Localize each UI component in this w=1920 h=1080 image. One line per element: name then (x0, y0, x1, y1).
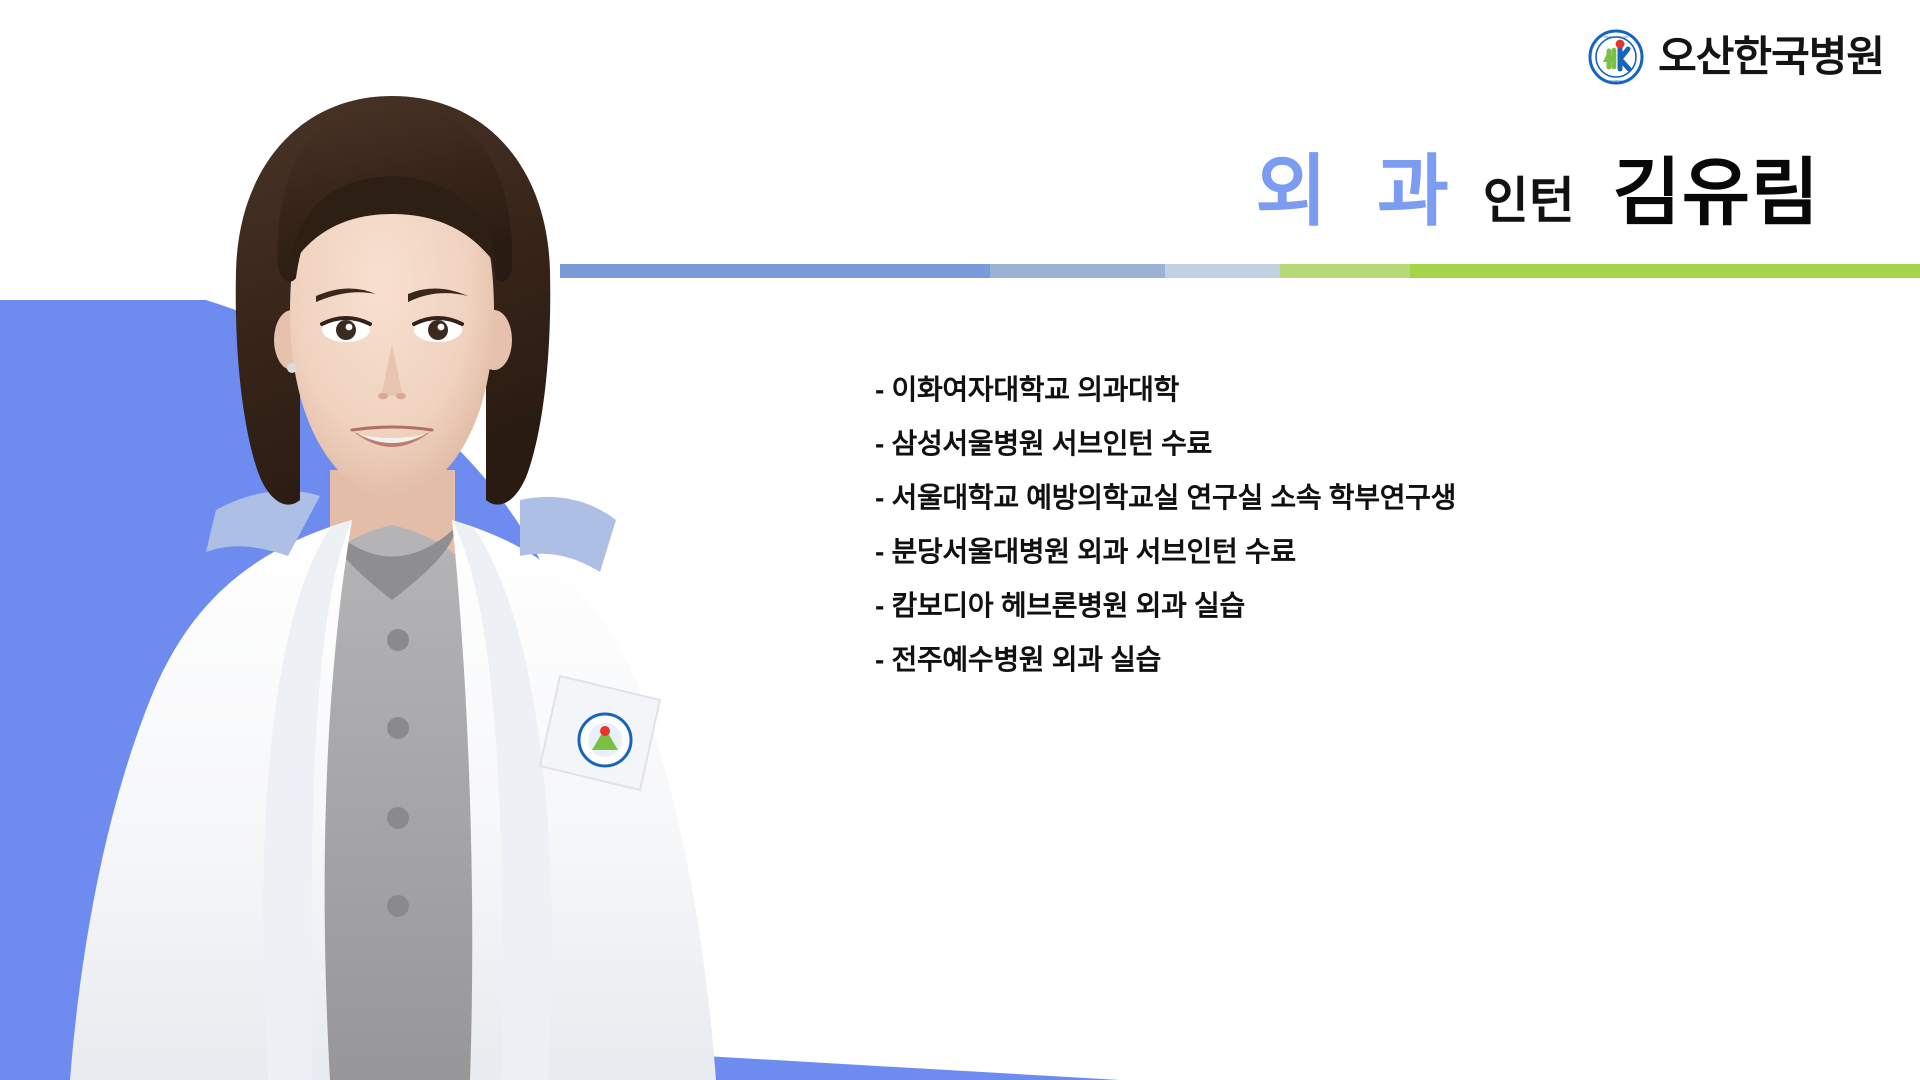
list-item: - 이화여자대학교 의과대학 (875, 376, 1775, 404)
svg-text:OSAN HANKOOK: OSAN HANKOOK (1604, 35, 1628, 39)
hospital-emblem-icon: OSAN HANKOOK HOSPITAL (1588, 29, 1644, 85)
list-item: - 삼성서울병원 서브인턴 수료 (875, 430, 1775, 458)
hospital-name-text: 오산한국병원 (1658, 36, 1884, 78)
list-item: - 캄보디아 헤브론병원 외과 실습 (875, 592, 1775, 620)
profile-content: 외 과 인턴 김유림 - 이화여자대학교 의과대학 - 삼성서울병원 서브인턴 … (540, 0, 1920, 1080)
divider-segment-1 (990, 264, 1165, 278)
list-item: - 전주예수병원 외과 실습 (875, 646, 1775, 674)
gradient-divider-bar (560, 264, 1920, 278)
divider-segment-4 (1410, 264, 1920, 278)
divider-segment-2 (1165, 264, 1280, 278)
title-row: 외 과 인턴 김유림 (540, 152, 1920, 260)
svg-text:HOSPITAL: HOSPITAL (1609, 79, 1624, 83)
divider-segment-0 (560, 264, 990, 278)
role-label: 인턴 (1483, 176, 1575, 226)
department-label: 외 과 (1256, 152, 1463, 230)
hospital-logo: OSAN HANKOOK HOSPITAL 오산한국병원 (1588, 22, 1884, 92)
list-item: - 분당서울대병원 외과 서브인턴 수료 (875, 538, 1775, 566)
divider-segment-3 (1280, 264, 1410, 278)
list-item: - 서울대학교 예방의학교실 연구실 소속 학부연구생 (875, 484, 1775, 512)
credentials-list: - 이화여자대학교 의과대학 - 삼성서울병원 서브인턴 수료 - 서울대학교 … (875, 376, 1775, 700)
doctor-name: 김유림 (1613, 156, 1820, 230)
